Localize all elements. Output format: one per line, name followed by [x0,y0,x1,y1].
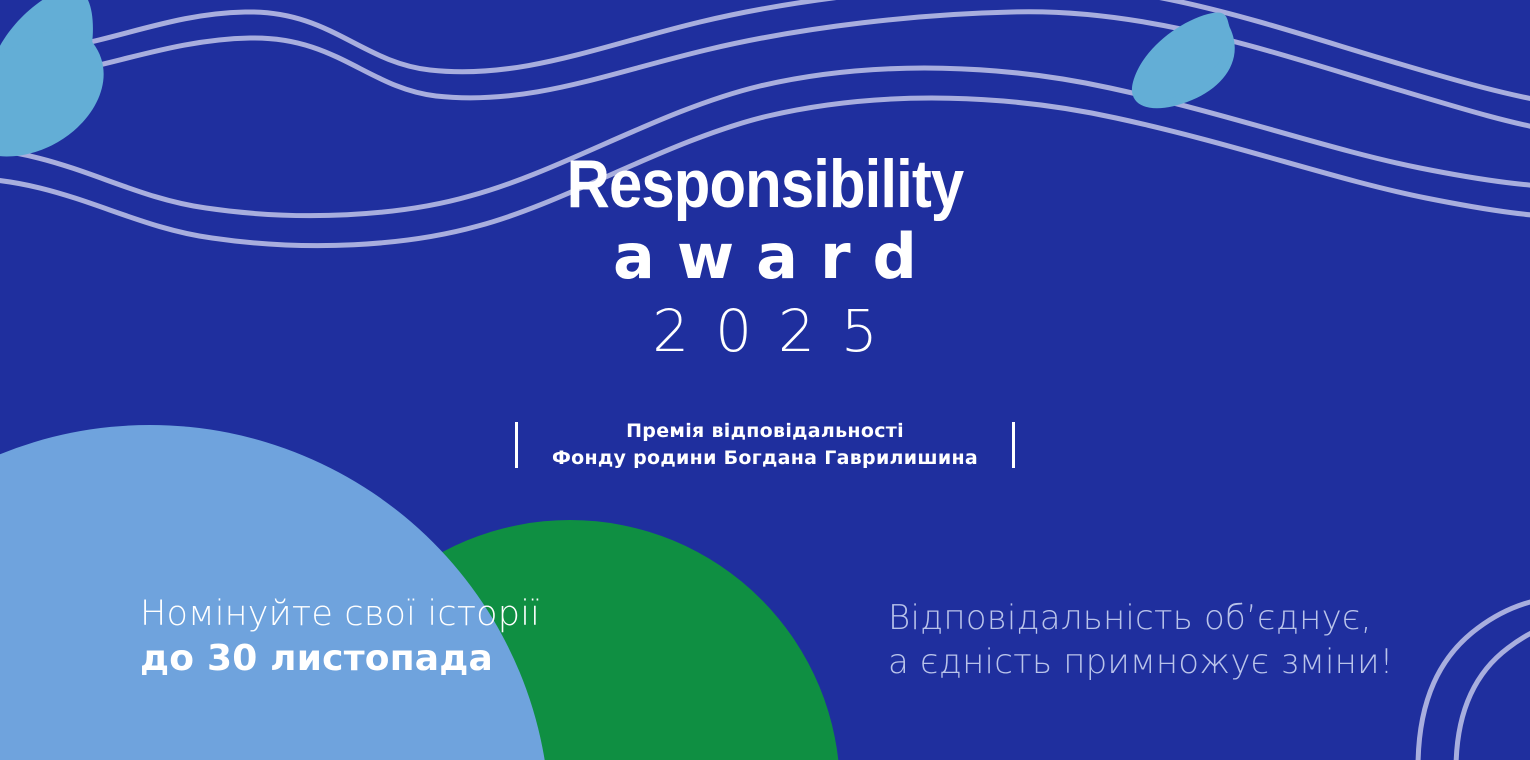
wave-line-top-a [0,0,1530,104]
leaf-shape-right [1132,15,1235,109]
subtitle-line-1: Премія відповідальності [552,418,978,445]
subtitle-text: Премія відповідальності Фонду родини Бог… [552,418,978,472]
award-banner: Responsibility award 2025 Премія відпові… [0,0,1530,760]
logo-responsibility: Responsibility [92,148,1438,220]
wave-line-top-b [0,12,1530,132]
slogan-line-1: Відповідальність об’єднує, [888,596,1394,640]
divider-rule-left [515,422,518,468]
leaf-shape-left [0,0,93,159]
award-logotype: Responsibility award 2025 [0,148,1530,362]
leaf-shape-right-body [1133,12,1230,103]
subtitle-block: Премія відповідальності Фонду родини Бог… [0,418,1530,472]
logo-award: award [0,224,1530,290]
divider-rule-right [1012,422,1015,468]
slogan-caption: Відповідальність об’єднує, а єдність при… [888,596,1394,684]
logo-year: 2025 [0,300,1530,362]
subtitle-line-2: Фонду родини Богдана Гаврилишина [552,445,978,472]
corner-curve-inner [1456,620,1530,760]
deadline-caption-line-1: Номінуйте свої історії [140,592,540,636]
leaf-shape-left-body [0,29,104,156]
slogan-line-2: а єдність примножує зміни! [888,640,1394,684]
corner-curve-outer [1418,596,1530,760]
deadline-caption: Номінуйте свої історії до 30 листопада [140,592,540,682]
deadline-caption-line-2: до 30 листопада [140,636,540,682]
